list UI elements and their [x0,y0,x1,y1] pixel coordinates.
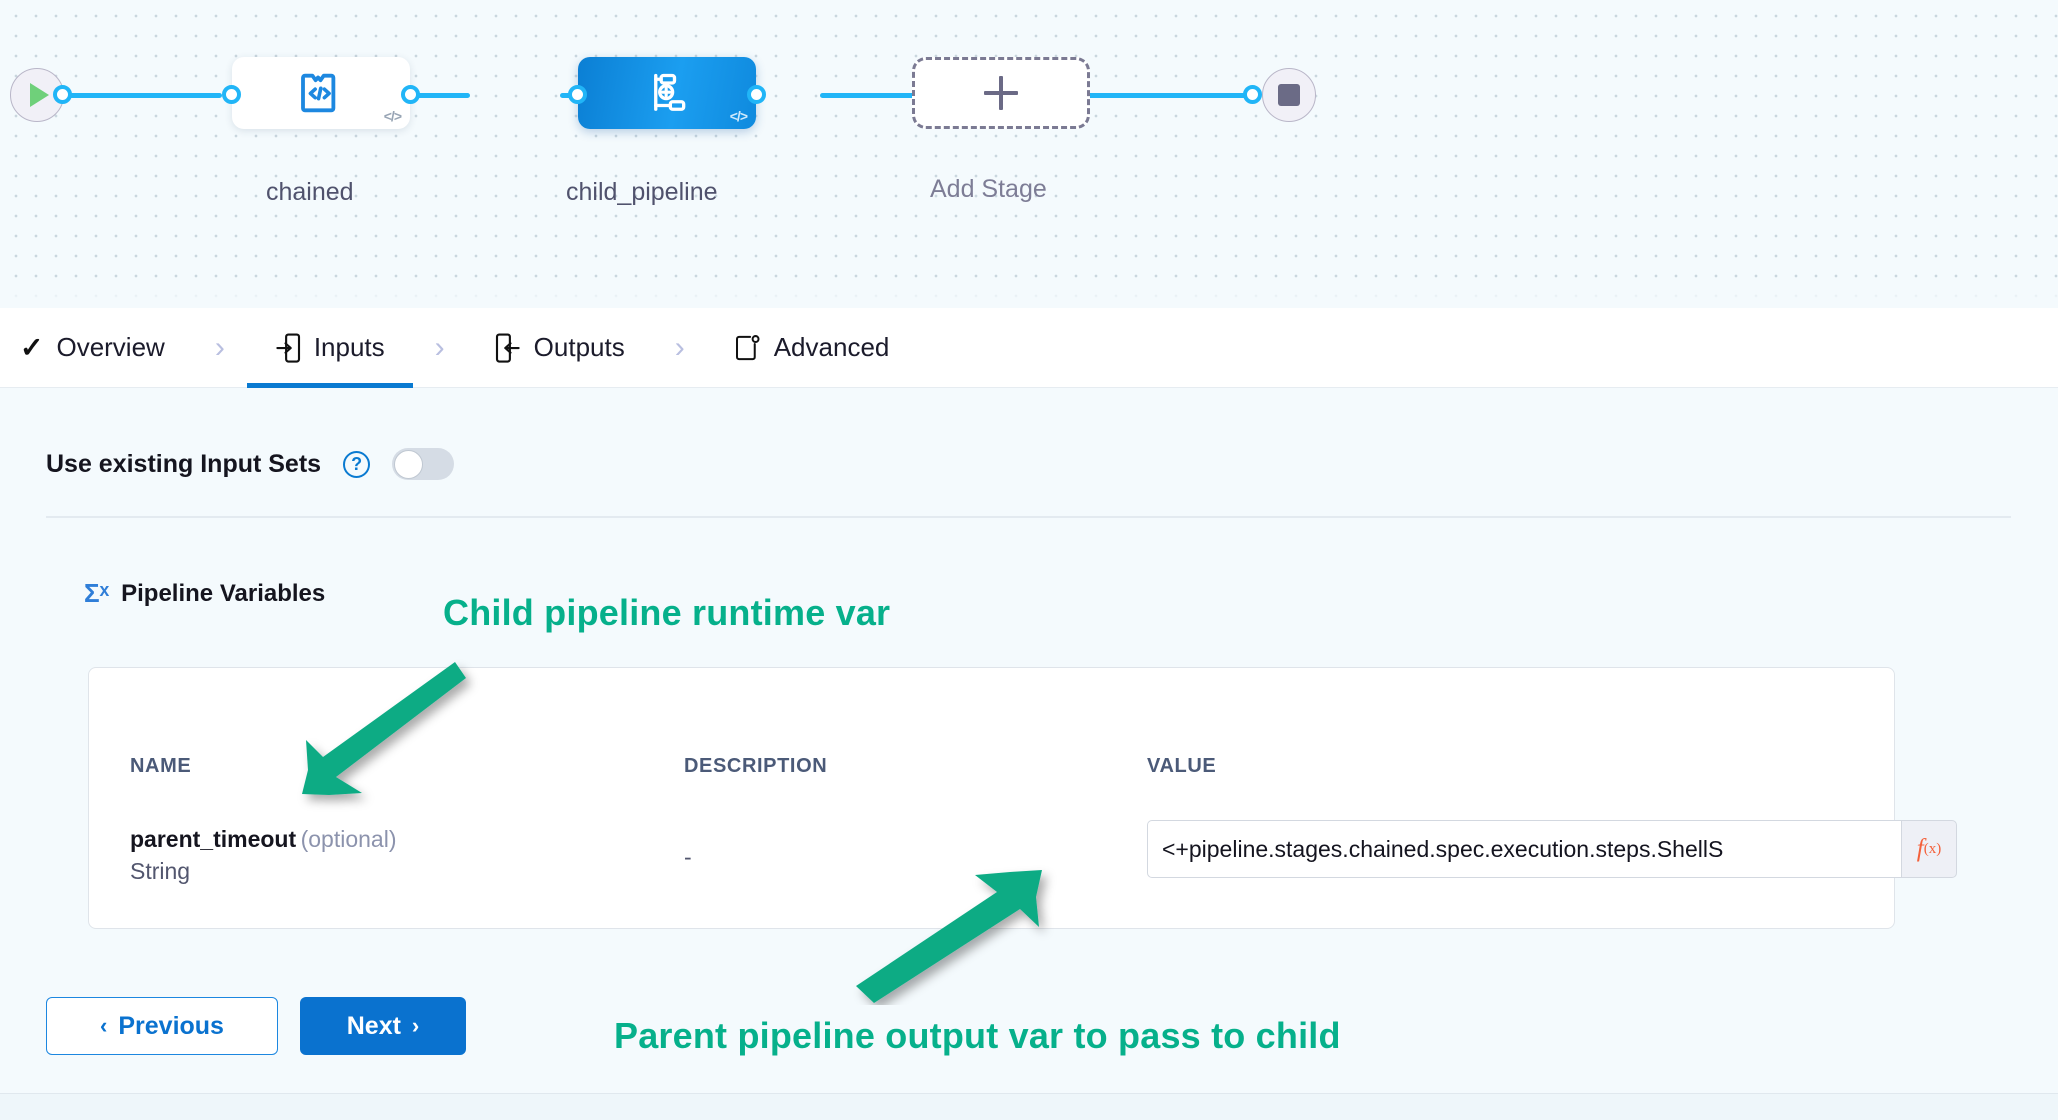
advanced-icon [735,333,761,363]
table-row: parent_timeout (optional) String [130,826,396,885]
tab-separator-1: › [215,331,225,365]
next-button[interactable]: Next › [300,997,466,1055]
column-header-name: NAME [130,755,191,778]
tab-separator-3: › [675,331,685,365]
stage-node-child-pipeline[interactable]: </> [578,57,756,129]
tab-overview-label: Overview [56,332,164,363]
child-in-port[interactable] [568,85,587,104]
yaml-badge-icon: </> [384,108,401,124]
edge-start-to-chained [52,93,222,98]
step-tabbar: ✓ Overview › Inputs › Ou [0,308,2058,388]
child-out-port[interactable] [747,85,766,104]
toggle-knob [394,450,423,479]
tab-overview[interactable]: ✓ Overview [14,308,171,388]
end-port[interactable] [1243,85,1262,104]
next-button-label: Next [347,1012,401,1041]
tab-inputs[interactable]: Inputs [269,308,391,388]
variable-value-field[interactable]: <+pipeline.stages.chained.spec.execution… [1147,820,1957,878]
tab-advanced-label: Advanced [774,332,890,363]
tab-advanced[interactable]: Advanced [729,308,896,388]
play-icon [30,83,49,107]
fx-sub: (x) [1924,841,1942,858]
use-existing-input-sets-toggle[interactable] [392,448,454,480]
canvas-fade [0,282,2058,308]
variable-optional-tag: (optional) [301,826,397,852]
variable-name-line: parent_timeout (optional) [130,826,396,853]
use-existing-input-sets-row: Use existing Input Sets ? [46,448,454,480]
code-stage-icon [294,66,348,120]
outputs-icon [495,333,521,363]
help-icon[interactable]: ? [343,451,370,478]
chained-in-port[interactable] [222,85,241,104]
app-root: </> chained </> child_pipeline Add Stage [0,0,2058,1120]
plus-icon-vertical [999,76,1004,110]
pipeline-variables-header: Σˣ Pipeline Variables [84,578,325,609]
start-port[interactable] [53,85,72,104]
add-stage-label: Add Stage [930,175,1047,204]
annotation-child-runtime-var: Child pipeline runtime var [443,592,890,634]
tab-outputs-label: Outputs [534,332,625,363]
pipeline-chain-icon [642,68,692,118]
bottom-strip [0,1093,2058,1120]
tab-inputs-label: Inputs [314,332,385,363]
stop-icon [1278,84,1300,106]
end-node[interactable] [1262,68,1316,122]
annotation-parent-output-var: Parent pipeline output var to pass to ch… [614,1015,1341,1057]
variable-description: - [684,844,692,871]
column-header-description: DESCRIPTION [684,755,827,778]
stage-label-child-pipeline: child_pipeline [566,178,718,207]
sigma-x-icon: Σˣ [84,578,109,609]
yaml-badge-icon: </> [730,108,747,124]
previous-button-label: Previous [118,1012,224,1041]
pipeline-canvas[interactable]: </> chained </> child_pipeline Add Stage [0,0,2058,308]
use-existing-input-sets-label: Use existing Input Sets [46,450,321,479]
chevron-right-icon: › [412,1013,419,1039]
column-header-value: VALUE [1147,755,1216,778]
pipeline-variables-card: NAME DESCRIPTION VALUE parent_timeout (o… [88,667,1895,929]
chevron-left-icon: ‹ [100,1013,107,1039]
tab-outputs[interactable]: Outputs [489,308,631,388]
previous-button[interactable]: ‹ Previous [46,997,278,1055]
stage-label-chained: chained [266,178,354,207]
variable-name: parent_timeout [130,826,296,852]
variable-value-input[interactable]: <+pipeline.stages.chained.spec.execution… [1147,820,1901,878]
section-divider [46,516,2011,518]
variable-type: String [130,858,396,885]
fx-label: f [1917,835,1924,863]
stage-node-chained[interactable]: </> [232,57,410,129]
pipeline-variables-title: Pipeline Variables [121,580,325,608]
inputs-icon [275,333,301,363]
check-icon: ✓ [20,334,43,362]
expression-fx-button[interactable]: f(x) [1901,820,1957,878]
add-stage-node[interactable] [912,57,1090,129]
chained-out-port[interactable] [401,85,420,104]
tab-separator-2: › [435,331,445,365]
